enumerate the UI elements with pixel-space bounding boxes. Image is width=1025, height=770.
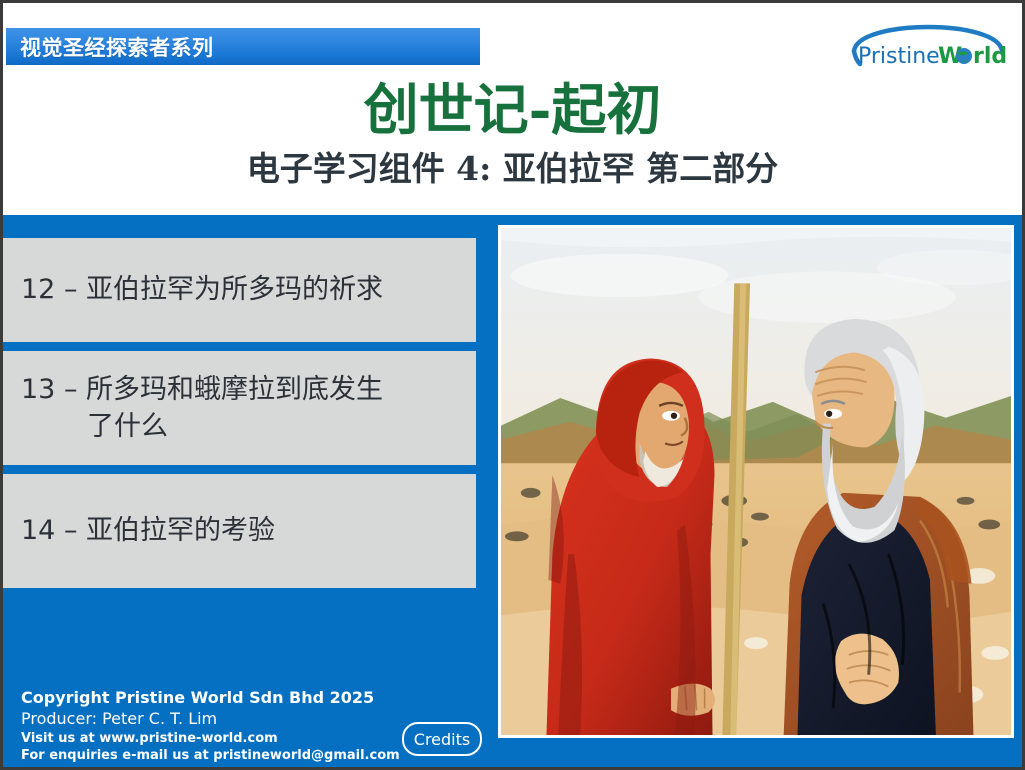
credits-button[interactable]: Credits xyxy=(402,722,482,756)
menu-item-label: 14 – 亚伯拉罕的考验 xyxy=(21,512,462,549)
slide-root: 视觉圣经探索者系列 Pristine W rld 创世记-起初 电子学习组件 4… xyxy=(0,0,1025,770)
lesson-menu: 12 – 亚伯拉罕为所多玛的祈求 13 – 所多玛和蛾摩拉到底发生 了什么 14… xyxy=(3,238,476,588)
series-banner: 视觉圣经探索者系列 xyxy=(6,28,480,65)
menu-item-13[interactable]: 13 – 所多玛和蛾摩拉到底发生 了什么 xyxy=(3,351,476,465)
lesson-illustration xyxy=(498,225,1014,738)
page-title: 创世记-起初 xyxy=(3,81,1022,139)
menu-item-line2: 了什么 xyxy=(21,408,462,445)
menu-item-line1: 14 – 亚伯拉罕的考验 xyxy=(21,515,275,546)
footer-line-copyright: Copyright Pristine World Sdn Bhd 2025 xyxy=(21,687,400,708)
footer-line-email: For enquiries e-mail us at pristineworld… xyxy=(21,747,400,765)
series-banner-label: 视觉圣经探索者系列 xyxy=(6,32,214,62)
footer-credits: Copyright Pristine World Sdn Bhd 2025 Pr… xyxy=(21,687,400,765)
menu-item-line1: 13 – 所多玛和蛾摩拉到底发生 xyxy=(21,374,383,405)
menu-item-label: 13 – 所多玛和蛾摩拉到底发生 了什么 xyxy=(21,371,462,446)
footer-line-website: Visit us at www.pristine-world.com xyxy=(21,730,400,748)
svg-text:Pristine: Pristine xyxy=(858,44,940,69)
menu-item-14[interactable]: 14 – 亚伯拉罕的考验 xyxy=(3,474,476,588)
menu-item-line1: 12 – 亚伯拉罕为所多玛的祈求 xyxy=(21,274,383,305)
content-area: 12 – 亚伯拉罕为所多玛的祈求 13 – 所多玛和蛾摩拉到底发生 了什么 14… xyxy=(3,215,1022,770)
title-area: 视觉圣经探索者系列 Pristine W rld 创世记-起初 电子学习组件 4… xyxy=(3,3,1022,215)
pristine-world-logo: Pristine W rld xyxy=(848,11,1008,73)
menu-item-label: 12 – 亚伯拉罕为所多玛的祈求 xyxy=(21,271,462,308)
svg-text:rld: rld xyxy=(973,44,1007,69)
menu-item-12[interactable]: 12 – 亚伯拉罕为所多玛的祈求 xyxy=(3,238,476,342)
footer-line-producer: Producer: Peter C. T. Lim xyxy=(21,708,400,729)
page-subtitle: 电子学习组件 4: 亚伯拉罕 第二部分 xyxy=(3,151,1022,187)
credits-button-label: Credits xyxy=(414,730,470,749)
